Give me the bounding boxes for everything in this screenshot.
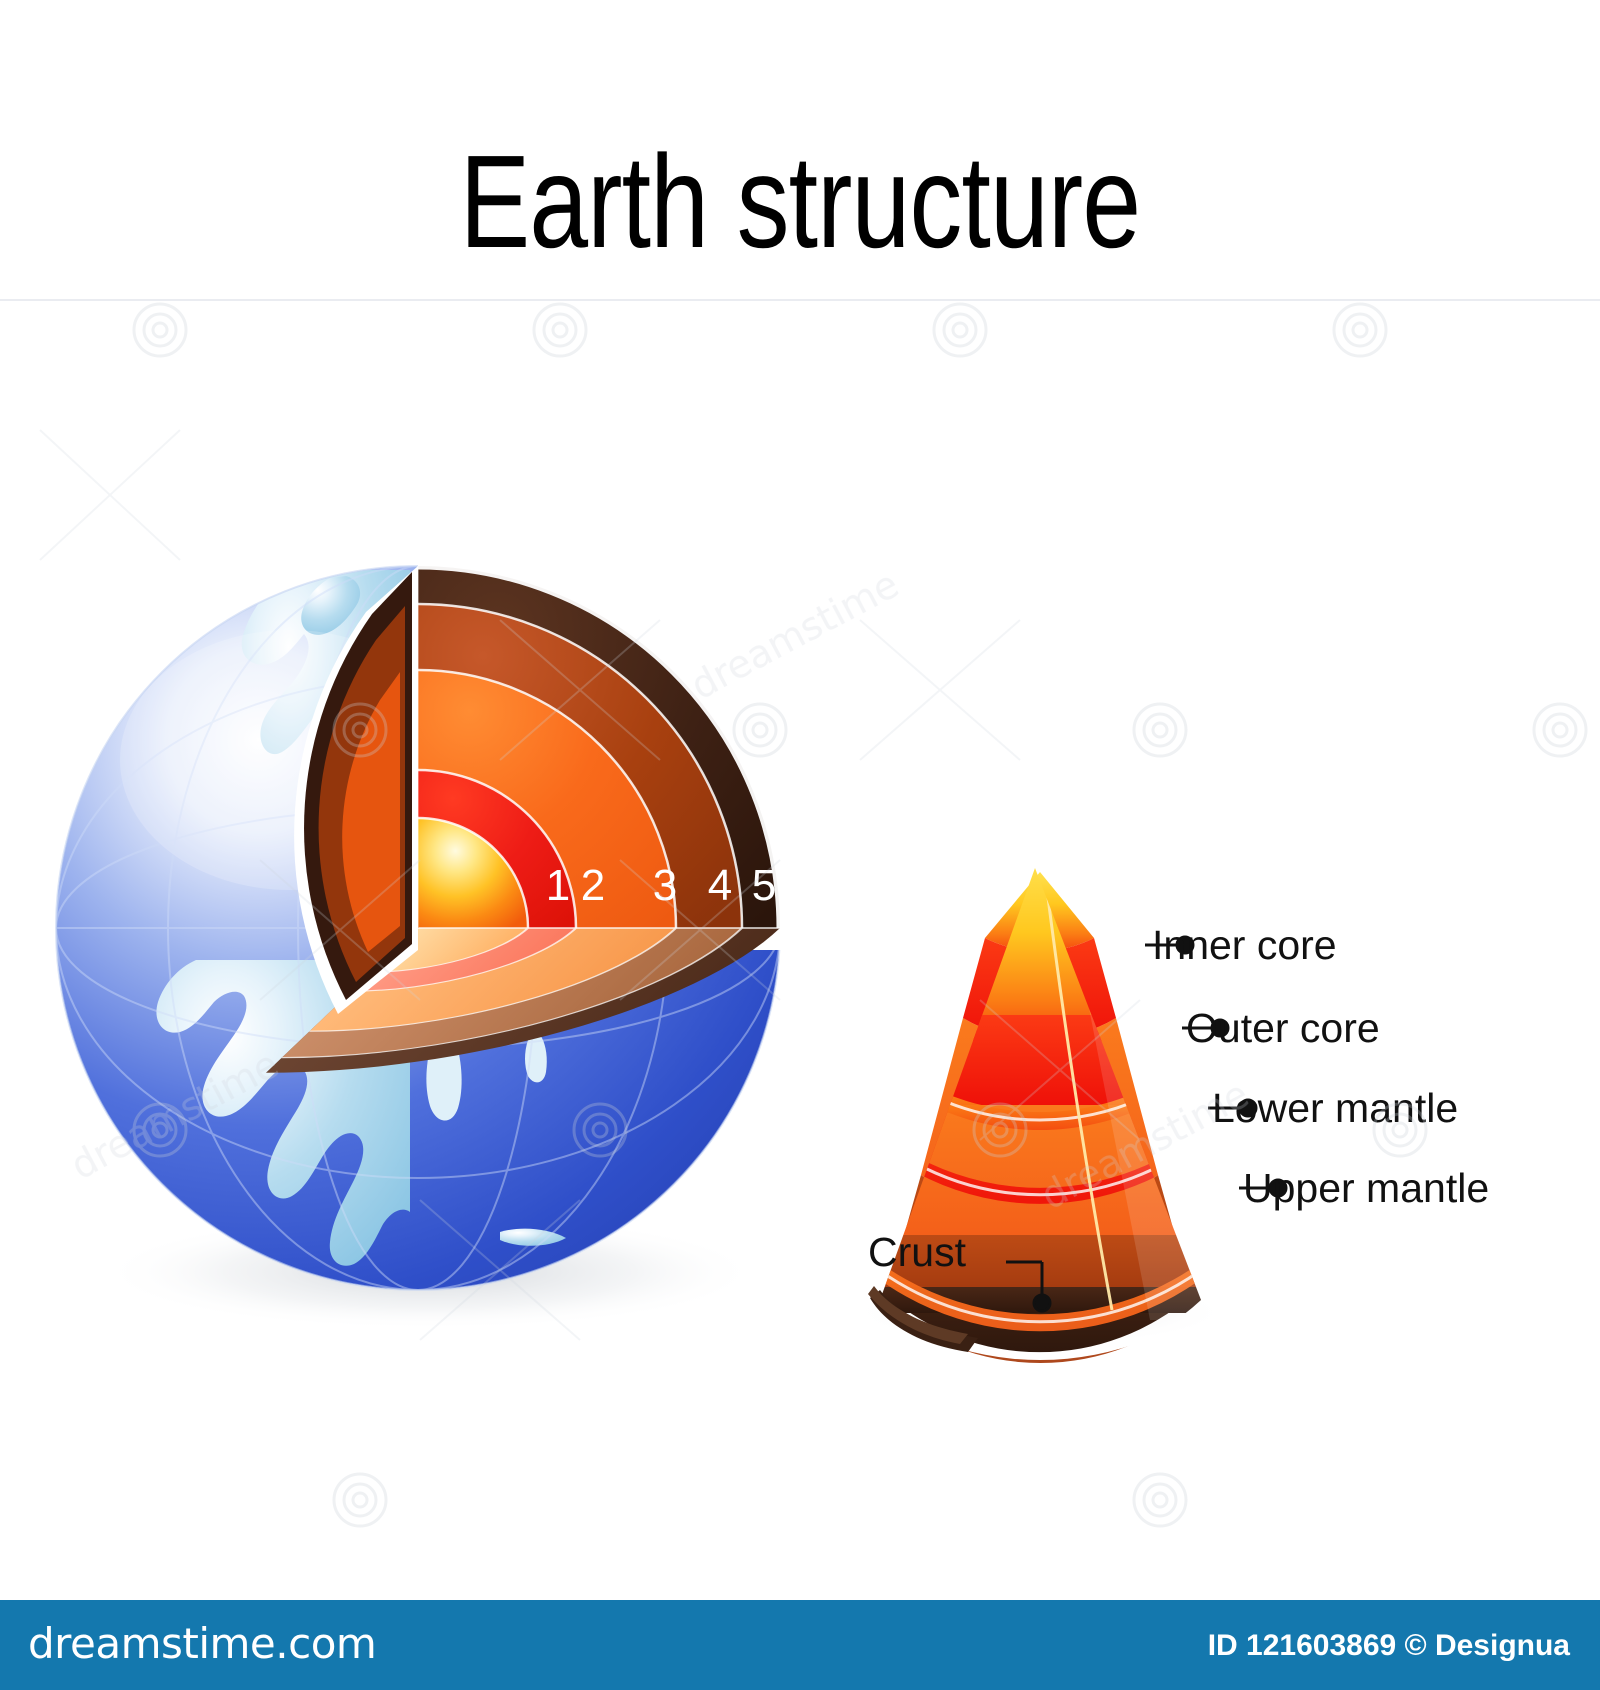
- dreamstime-logo[interactable]: dreamstime.com: [28, 1622, 376, 1666]
- callout-number-5: 5: [744, 864, 784, 908]
- wedge-label-outer-core: Outer core: [1186, 1008, 1380, 1049]
- callout-number-2: 2: [573, 864, 613, 908]
- image-credit: ID 121603869 © Designua: [1208, 1630, 1570, 1662]
- wedge-label-upper-mantle: Upper mantle: [1243, 1168, 1489, 1209]
- callout-number-4: 4: [700, 864, 740, 908]
- callout-number-3: 3: [645, 864, 685, 908]
- wedge-label-inner-core: Inner core: [1152, 925, 1337, 966]
- footer-bar: dreamstime.com ID 121603869 © Designua: [0, 1600, 1600, 1690]
- wedge-label-crust: Crust: [868, 1232, 966, 1273]
- wedge-label-lower-mantle: Lower mantle: [1212, 1088, 1458, 1129]
- callout-number-1: 1: [538, 864, 578, 908]
- illustration-stage: 1 2 3 4 5 Inner core Outer core Lower ma…: [0, 0, 1600, 1600]
